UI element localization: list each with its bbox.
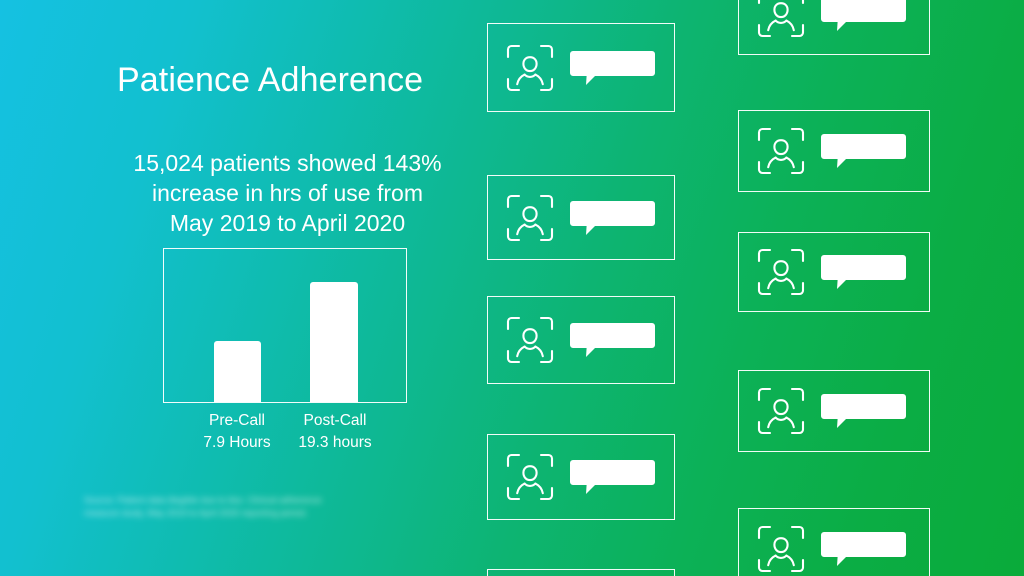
icon-card-content: [739, 233, 929, 311]
person-in-focus-frame-icon: [756, 126, 806, 176]
icon-card-card-r3[interactable]: [738, 232, 930, 312]
icon-card-card-r4[interactable]: [738, 370, 930, 452]
icon-card-card-l4[interactable]: [487, 434, 675, 520]
icon-card-content: [739, 0, 929, 54]
icon-card-content: [488, 24, 674, 111]
icon-card-content: [488, 435, 674, 519]
speech-bubble-icon: [570, 460, 655, 494]
bar-pre-call: [214, 341, 261, 402]
person-in-focus-frame-icon: [756, 0, 806, 39]
icon-card-content: [739, 111, 929, 191]
icon-card-card-l5[interactable]: [487, 569, 675, 576]
speech-bubble-icon: [570, 201, 655, 235]
speech-bubble-icon: [821, 394, 906, 428]
page-title: Patience Adherence: [117, 58, 423, 102]
bar-chart: [163, 248, 407, 403]
bar-category-pre-call: Pre-Call: [209, 412, 265, 429]
bar-value-post-call: 19.3 hours: [275, 432, 395, 454]
icon-card-content: [488, 570, 674, 576]
icon-card-card-r1[interactable]: [738, 0, 930, 55]
footnote-line-2: measure study, May 2019 to April 2020 re…: [84, 507, 474, 520]
person-in-focus-frame-icon: [756, 524, 806, 574]
subtitle-line-2: increase in hrs of use from: [95, 178, 480, 208]
person-in-focus-frame-icon: [505, 193, 555, 243]
footnote-blurred: Source: Patient data illegible due to bl…: [84, 494, 474, 520]
speech-bubble-icon: [821, 134, 906, 168]
subtitle-line-1: 15,024 patients showed 143%: [95, 148, 480, 178]
icon-card-card-l2[interactable]: [487, 175, 675, 260]
icon-card-card-l1[interactable]: [487, 23, 675, 112]
person-in-focus-frame-icon: [505, 315, 555, 365]
icon-card-content: [488, 176, 674, 259]
icon-card-content: [739, 509, 929, 576]
icon-card-content: [739, 371, 929, 451]
speech-bubble-icon: [570, 323, 655, 357]
bar-category-post-call: Post-Call: [304, 412, 367, 429]
icon-card-card-l3[interactable]: [487, 296, 675, 384]
speech-bubble-icon: [570, 51, 655, 85]
bar-chart-labels: Pre-Call 7.9 Hours Post-Call 19.3 hours: [163, 410, 407, 458]
person-in-focus-frame-icon: [756, 386, 806, 436]
slide-canvas: Patience Adherence 15,024 patients showe…: [0, 0, 1024, 576]
bar-post-call: [310, 282, 358, 402]
subtitle-line-3: May 2019 to April 2020: [95, 208, 480, 238]
icon-card-card-r5[interactable]: [738, 508, 930, 576]
speech-bubble-icon: [821, 255, 906, 289]
icon-card-card-r2[interactable]: [738, 110, 930, 192]
person-in-focus-frame-icon: [505, 452, 555, 502]
speech-bubble-icon: [821, 532, 906, 566]
person-in-focus-frame-icon: [505, 43, 555, 93]
footnote-line-1: Source: Patient data illegible due to bl…: [84, 494, 474, 507]
speech-bubble-icon: [821, 0, 906, 31]
icon-card-content: [488, 297, 674, 383]
subtitle-block: 15,024 patients showed 143% increase in …: [95, 148, 480, 238]
bar-label-post-call: Post-Call 19.3 hours: [275, 410, 395, 454]
person-in-focus-frame-icon: [756, 247, 806, 297]
